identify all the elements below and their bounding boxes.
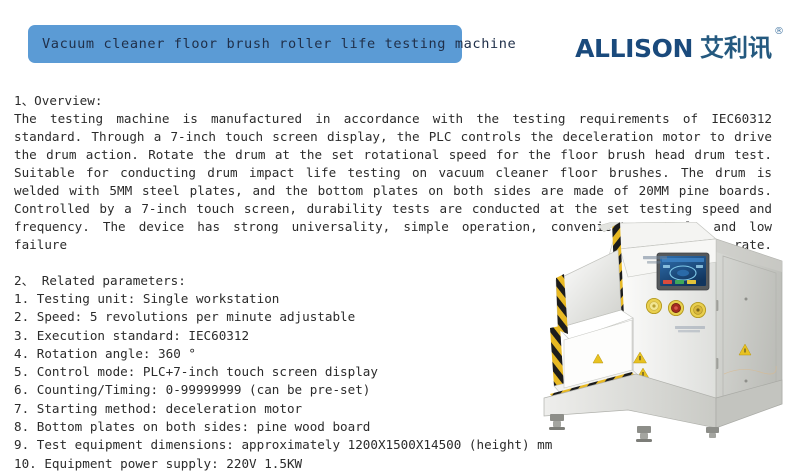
leveling-foot-icon	[706, 427, 719, 438]
page-title: Vacuum cleaner floor brush roller life t…	[28, 36, 516, 52]
reset-button[interactable]	[690, 302, 705, 317]
brand-logo: ALLISON 艾利讯 ®	[575, 36, 784, 61]
machine-photo	[520, 222, 800, 450]
registered-trademark-icon: ®	[774, 27, 784, 37]
leveling-foot-icon	[549, 414, 565, 430]
start-button[interactable]	[646, 298, 661, 313]
title-banner: Vacuum cleaner floor brush roller life t…	[28, 25, 462, 63]
leveling-foot-icon	[636, 426, 652, 442]
logo-latin-text: ALLISON	[575, 36, 693, 61]
section-heading-overview: 1、Overview:	[14, 92, 774, 110]
machine-illustration	[520, 222, 800, 450]
list-item: 10. Equipment power supply: 220V 1.5KW	[14, 455, 774, 473]
hazard-stripe	[550, 326, 564, 388]
page-header: Vacuum cleaner floor brush roller life t…	[0, 0, 800, 88]
logo-cjk-text: 艾利讯	[700, 36, 772, 60]
emergency-stop-button[interactable]	[668, 300, 683, 315]
